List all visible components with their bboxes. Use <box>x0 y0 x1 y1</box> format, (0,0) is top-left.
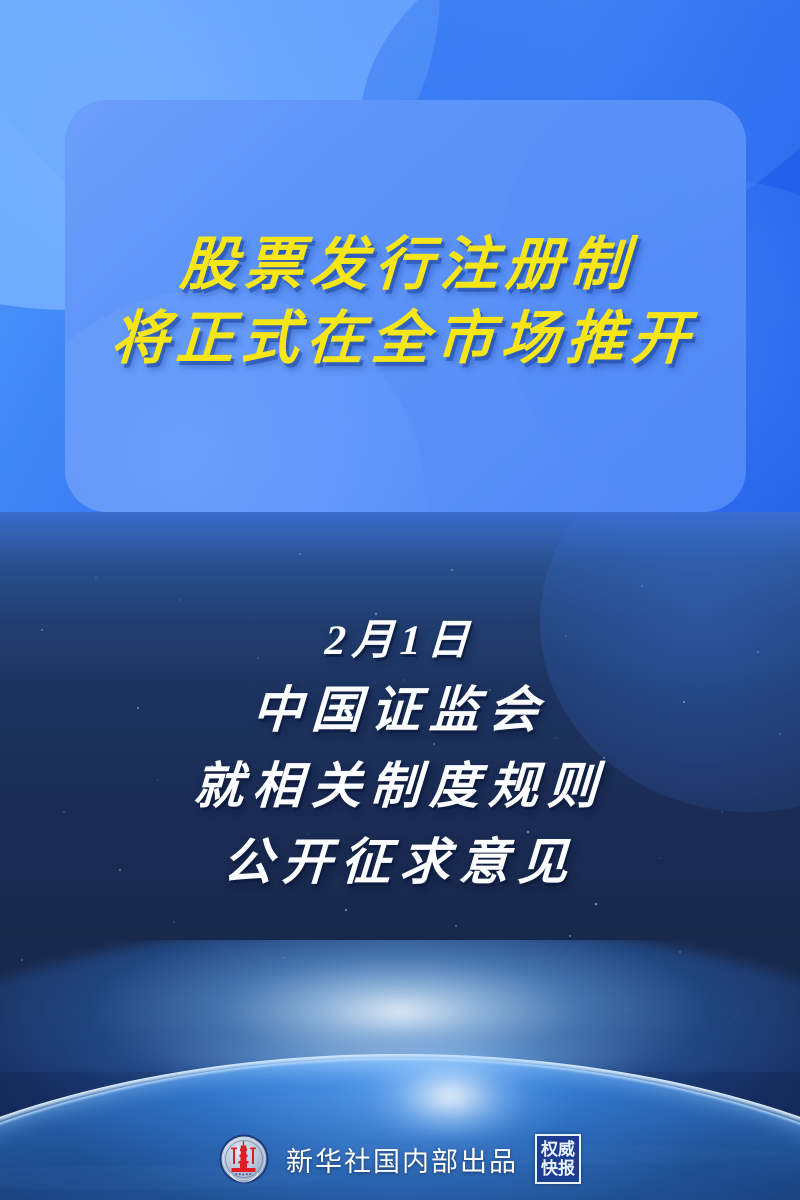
body-line-3: 公开征求意见 <box>0 826 800 898</box>
headline-line-1: 股票发行注册制 <box>65 228 746 302</box>
body-text-block: 2月1日 中国证监会 就相关制度规则 公开征求意见 <box>0 612 800 898</box>
footer-credit-text: 新华社国内部出品 <box>286 1140 518 1179</box>
xinhua-pagoda-logo-icon <box>219 1134 269 1184</box>
horizon-sunburst <box>330 998 570 1138</box>
stamp-row-1: 权威 <box>541 1140 575 1159</box>
headline-card: 股票发行注册制 将正式在全市场推开 <box>65 100 746 512</box>
date-line: 2月1日 <box>0 612 800 670</box>
news-poster: 股票发行注册制 将正式在全市场推开 <box>0 0 800 1200</box>
body-line-1: 中国证监会 <box>0 674 800 746</box>
headline-line-2: 将正式在全市场推开 <box>65 302 746 376</box>
authority-stamp-icon: 权威 快报 <box>535 1134 581 1184</box>
footer: 新华社国内部出品 权威 快报 <box>0 1128 800 1190</box>
stamp-row-2: 快报 <box>541 1159 575 1178</box>
body-line-2: 就相关制度规则 <box>0 750 800 822</box>
page-title: 股票发行注册制 将正式在全市场推开 <box>65 228 746 376</box>
